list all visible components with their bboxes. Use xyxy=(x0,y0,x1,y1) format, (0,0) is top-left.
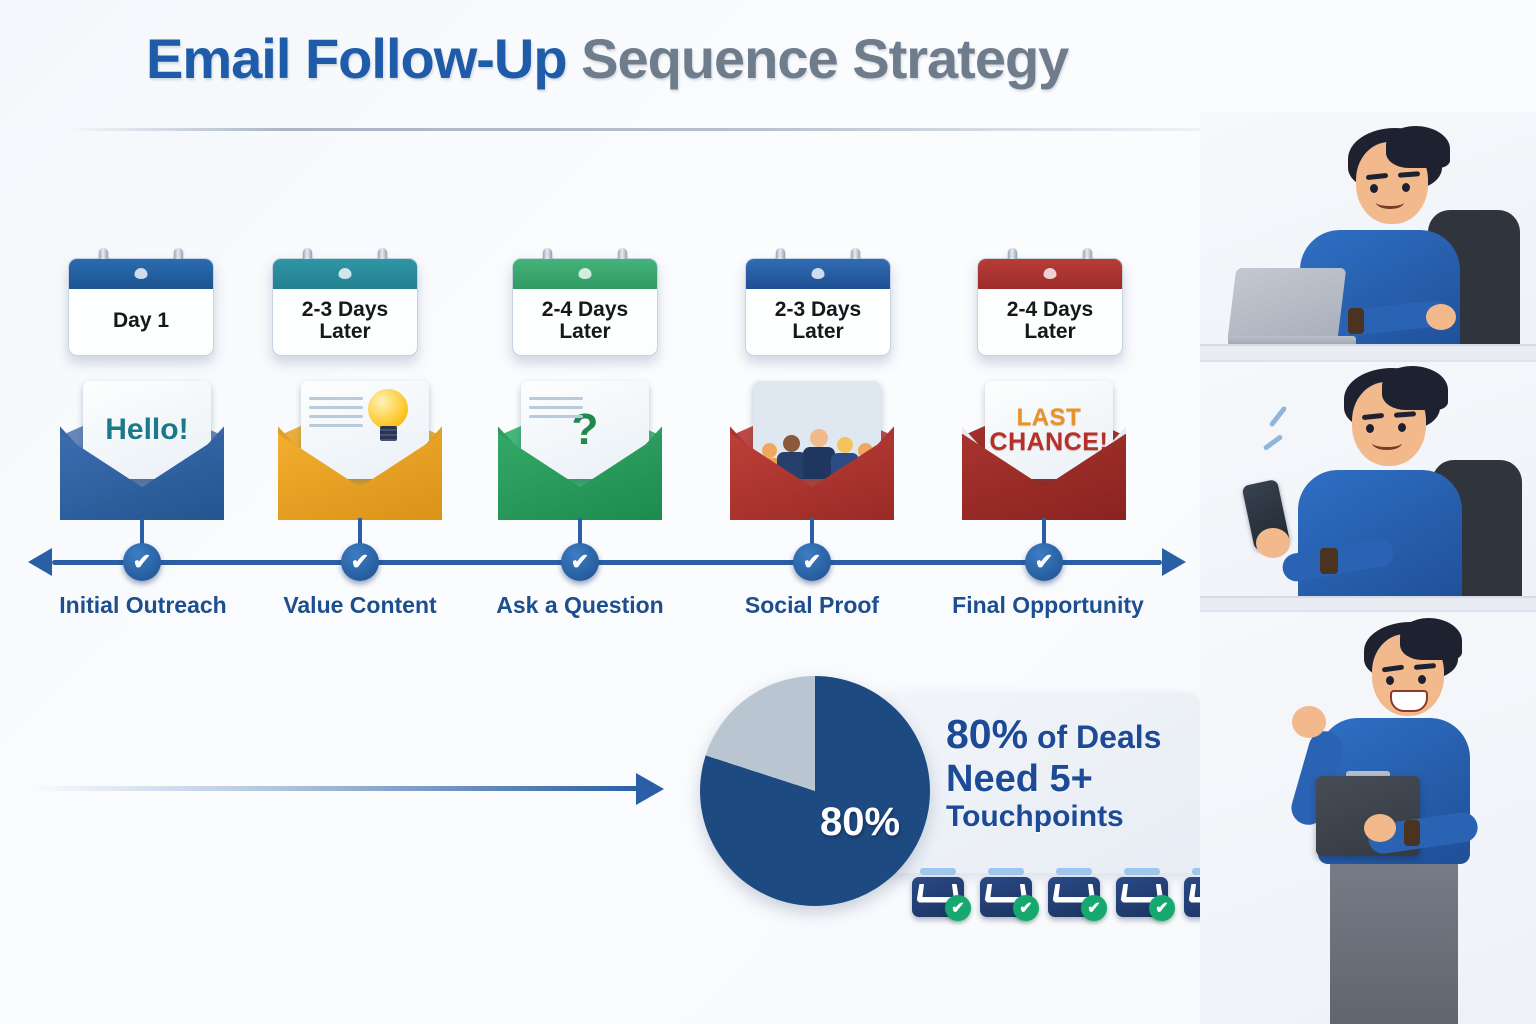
calendar-header-bar xyxy=(273,259,417,289)
checkmark-icon: ✔ xyxy=(803,549,821,575)
flow-arrow-line xyxy=(30,786,640,791)
step-label-final-opportunity: Final Opportunity xyxy=(952,592,1144,619)
timeline-node-5[interactable]: ✔ xyxy=(1025,543,1063,581)
step-label-initial-outreach: Initial Outreach xyxy=(59,592,226,619)
hand xyxy=(1364,814,1396,842)
spark-icon xyxy=(1269,406,1288,428)
open-smile xyxy=(1390,690,1428,712)
step-label-value-content: Value Content xyxy=(283,592,436,619)
step-label-ask-a-question: Ask a Question xyxy=(496,592,663,619)
checkmark-icon: ✔ xyxy=(1035,549,1053,575)
hair-fringe xyxy=(1400,618,1462,660)
illustration-man-with-phone xyxy=(1200,362,1536,610)
timeline-node-1[interactable]: ✔ xyxy=(123,543,161,581)
title-primary: Email Follow-Up xyxy=(146,27,567,90)
desk xyxy=(1200,344,1536,360)
eye xyxy=(1418,675,1426,684)
envelope-value-content xyxy=(278,400,442,520)
calendar-card-4: 2-3 Days Later xyxy=(745,258,891,356)
checkmark-icon: ✔ xyxy=(951,898,964,918)
check-badge-3: ✔ xyxy=(1081,895,1107,921)
timeline-arrow-right-icon xyxy=(1162,548,1186,576)
timeline-arrow-left-icon xyxy=(28,548,52,576)
eye xyxy=(1370,184,1378,193)
step-label-social-proof: Social Proof xyxy=(745,592,879,619)
envelope-final-opportunity: LAST CHANCE! xyxy=(962,400,1126,520)
envelope-tab xyxy=(988,868,1024,875)
smile xyxy=(1372,436,1402,450)
calendar-card-5: 2-4 Days Later xyxy=(977,258,1123,356)
envelope-ask-question: ? xyxy=(498,400,662,520)
calendar-card-1: Day 1 xyxy=(68,258,214,356)
calendar-label: 2-3 Days Later xyxy=(746,289,890,353)
trousers xyxy=(1330,856,1458,1024)
illustration-man-at-laptop xyxy=(1200,112,1536,360)
illustration-man-celebrating xyxy=(1200,612,1536,1024)
pie-chart xyxy=(700,676,930,906)
timeline-node-2[interactable]: ✔ xyxy=(341,543,379,581)
timeline-node-4[interactable]: ✔ xyxy=(793,543,831,581)
calendar-label: 2-4 Days Later xyxy=(978,289,1122,353)
stat-line3: Touchpoints xyxy=(946,800,1196,834)
stat-headline: 80% of Deals Need 5+ Touchpoints xyxy=(946,712,1196,834)
check-badge-1: ✔ xyxy=(945,895,971,921)
last-chance-line1: LAST xyxy=(990,406,1109,430)
wristwatch xyxy=(1348,308,1364,334)
envelope-tab xyxy=(920,868,956,875)
hair-fringe xyxy=(1382,366,1448,410)
envelope-social-proof xyxy=(730,400,894,520)
stat-percent: 80% xyxy=(946,711,1028,757)
page-title: Email Follow-Up Sequence Strategy xyxy=(146,26,1068,91)
infographic-canvas: Email Follow-Up Sequence Strategy Day 1 … xyxy=(0,0,1536,1024)
last-chance-line2: CHANCE! xyxy=(990,430,1109,455)
card-text-lines xyxy=(529,397,583,424)
checkmark-icon: ✔ xyxy=(1019,898,1032,918)
calendar-header-bar xyxy=(746,259,890,289)
hair-fringe xyxy=(1386,126,1450,168)
eye xyxy=(1398,423,1406,432)
laptop-lid xyxy=(1228,268,1347,338)
eye xyxy=(1366,424,1374,433)
calendar-label: 2-4 Days Later xyxy=(513,289,657,353)
pie-data-label: 80% xyxy=(820,800,900,845)
calendar-card-2: 2-3 Days Later xyxy=(272,258,418,356)
calendar-header-bar xyxy=(513,259,657,289)
eye xyxy=(1402,183,1410,192)
title-secondary: Sequence Strategy xyxy=(581,27,1068,90)
spark-icon xyxy=(1263,434,1284,451)
calendar-header-bar xyxy=(978,259,1122,289)
hand xyxy=(1426,304,1456,330)
timeline-node-3[interactable]: ✔ xyxy=(561,543,599,581)
envelope-tab xyxy=(1056,868,1092,875)
stat-line2: Need 5+ xyxy=(946,758,1196,801)
header-divider xyxy=(64,128,1294,131)
checkmark-icon: ✔ xyxy=(1155,898,1168,918)
check-badge-4: ✔ xyxy=(1149,895,1175,921)
checkmark-icon: ✔ xyxy=(133,549,151,575)
calendar-label: 2-3 Days Later xyxy=(273,289,417,353)
fist xyxy=(1292,706,1326,738)
calendar-label: Day 1 xyxy=(69,289,213,353)
lightbulb-glyph xyxy=(368,389,408,443)
timeline-axis xyxy=(52,560,1162,565)
checkmark-icon: ✔ xyxy=(351,549,369,575)
hello-text: Hello! xyxy=(105,413,188,447)
checkmark-icon: ✔ xyxy=(571,549,589,575)
hand xyxy=(1256,528,1290,558)
eye xyxy=(1386,676,1394,685)
calendar-header-bar xyxy=(69,259,213,289)
envelope-initial-outreach: Hello! xyxy=(60,400,224,520)
checkmark-icon: ✔ xyxy=(1087,898,1100,918)
smile xyxy=(1376,196,1404,209)
flow-arrow-head-icon xyxy=(636,773,664,805)
check-badge-2: ✔ xyxy=(1013,895,1039,921)
card-text-lines xyxy=(309,397,363,433)
wristwatch xyxy=(1404,820,1420,846)
desk xyxy=(1200,596,1536,610)
stat-line1-rest: of Deals xyxy=(1028,719,1161,755)
calendar-card-3: 2-4 Days Later xyxy=(512,258,658,356)
envelope-tab xyxy=(1124,868,1160,875)
wristwatch xyxy=(1320,548,1338,574)
